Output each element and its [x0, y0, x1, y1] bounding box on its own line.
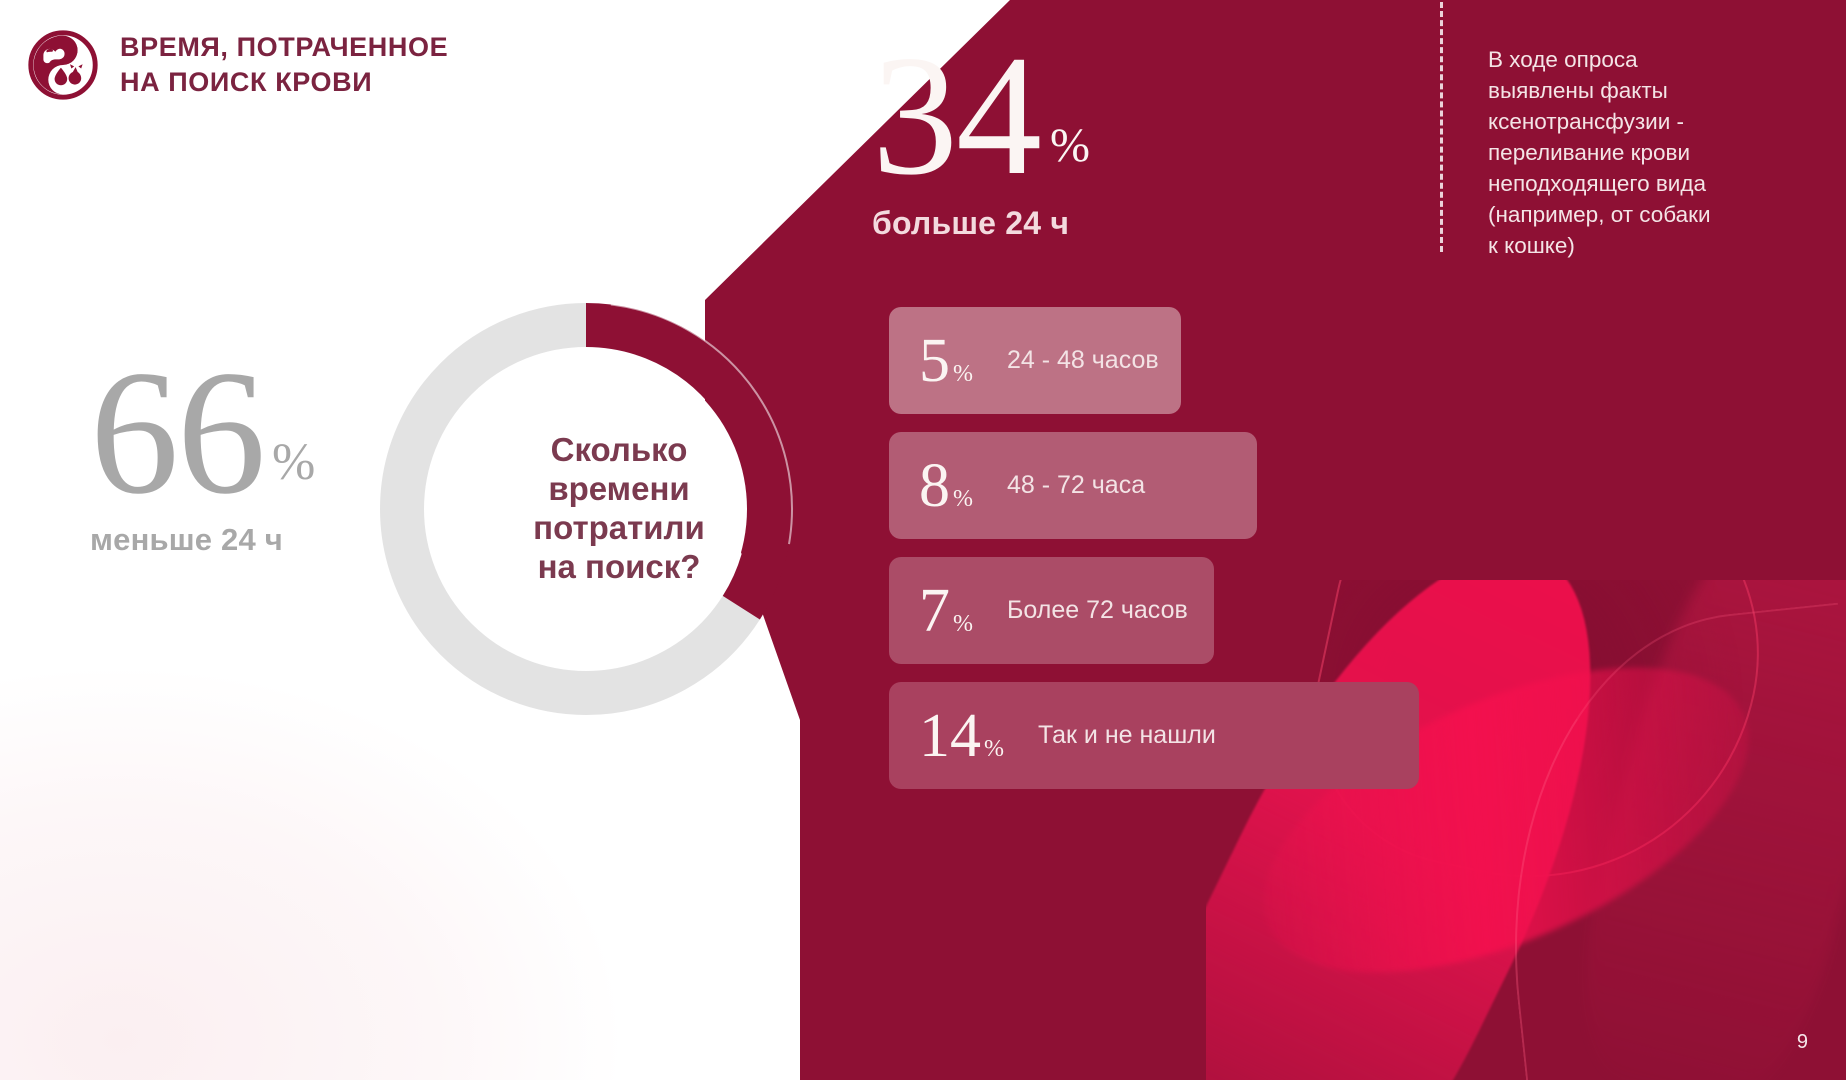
dog-cat-blood-drop-logo-icon [28, 30, 98, 100]
stat-top-label: больше 24 ч [872, 205, 1090, 242]
survey-note-text: В ходе опроса выявлены факты ксенотрансф… [1488, 44, 1808, 261]
page-number: 9 [1797, 1031, 1808, 1054]
bar-value-text-0: 5 [919, 330, 950, 392]
slide-header: ВРЕМЯ, ПОТРАЧЕННОЕ НА ПОИСК КРОВИ [28, 30, 448, 100]
bar-row-1: 8 % 48 - 72 часа [889, 432, 1257, 539]
bar-label-2: Более 72 часов [1007, 596, 1188, 625]
breakdown-bar-list: 5 % 24 - 48 часов 8 % 48 - 72 часа 7 % Б… [889, 307, 1509, 807]
bar-percent-symbol-2: % [953, 612, 973, 636]
stat-top-percent-symbol: % [1050, 118, 1090, 173]
donut-center-question: Сколько времени потратили на поиск? [365, 288, 807, 730]
bar-row-2: 7 % Более 72 часов [889, 557, 1214, 664]
bar-value-text-2: 7 [919, 580, 950, 642]
bar-value-2: 7 % [919, 580, 973, 642]
donut-chart: Сколько времени потратили на поиск? [365, 288, 807, 730]
bar-value-1: 8 % [919, 455, 973, 517]
page-title: ВРЕМЯ, ПОТРАЧЕННОЕ НА ПОИСК КРОВИ [120, 30, 448, 99]
slide-canvas: ВРЕМЯ, ПОТРАЧЕННОЕ НА ПОИСК КРОВИ 66 % м… [0, 0, 1846, 1080]
bar-label-3: Так и не нашли [1038, 721, 1216, 750]
stat-left-value: 66 [90, 358, 264, 508]
bar-value-text-1: 8 [919, 455, 950, 517]
bar-value-text-3: 14 [919, 705, 981, 767]
bar-row-0: 5 % 24 - 48 часов [889, 307, 1181, 414]
bar-percent-symbol-1: % [953, 487, 973, 511]
bar-percent-symbol-0: % [953, 362, 973, 386]
bar-value-0: 5 % [919, 330, 973, 392]
bar-row-3: 14 % Так и не нашли [889, 682, 1419, 789]
bar-label-0: 24 - 48 часов [1007, 346, 1159, 375]
bar-percent-symbol-3: % [984, 737, 1004, 761]
stat-top-value: 34 [872, 46, 1040, 187]
stat-left-percent-symbol: % [272, 433, 315, 492]
bar-label-1: 48 - 72 часа [1007, 471, 1145, 500]
dashed-divider [1440, 2, 1443, 252]
bar-value-3: 14 % [919, 705, 1004, 767]
stat-more-than-24h: 34 % больше 24 ч [872, 46, 1090, 242]
